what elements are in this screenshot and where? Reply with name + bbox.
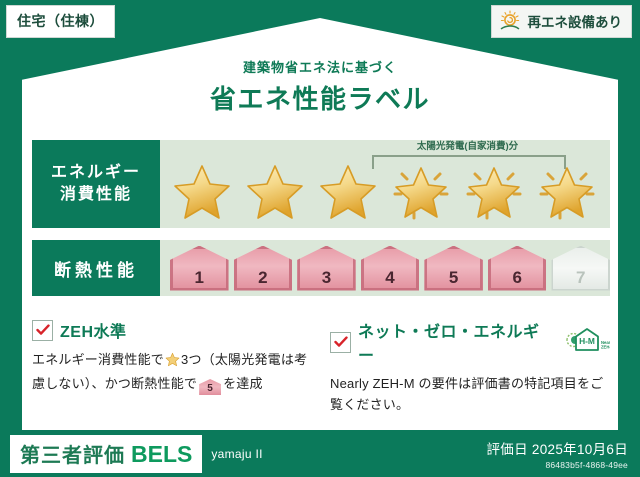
- insulation-grade-badge: 6: [488, 246, 547, 291]
- bels-certification-box: 第三者評価 BELS: [10, 435, 202, 473]
- star-icon-solar: [385, 160, 456, 224]
- star-rating: [160, 160, 610, 224]
- zeh-note-header: ZEH水準: [32, 318, 312, 342]
- evaluation-date: 評価日 2025年10月6日: [486, 438, 628, 458]
- insulation-grade-badge: 1: [170, 246, 229, 291]
- nze-note-title: ネット・ゼロ・エネルギー: [358, 318, 553, 366]
- energy-performance-label: 住宅（住棟） 再エネ設備あり 建築物省エネ法に基づく: [0, 0, 640, 477]
- solar-sun-icon: [499, 10, 523, 32]
- svg-text:ZEH-M: ZEH-M: [601, 344, 610, 349]
- svg-text:H-M: H-M: [579, 336, 595, 346]
- page-title: 省エネ性能ラベル: [0, 79, 640, 116]
- insulation-grade-badge: 4: [361, 246, 420, 291]
- evaluation-info: 評価日 2025年10月6日 86483b5f-4868-49ee: [486, 438, 628, 470]
- bels-jp-label: 第三者評価: [20, 439, 125, 468]
- star-icon-solar: [458, 160, 529, 224]
- evaluation-id: 86483b5f-4868-49ee: [486, 460, 628, 470]
- check-icon: [330, 332, 351, 353]
- footer-bar: 第三者評価 BELS yamaju II 評価日 2025年10月6日 8648…: [0, 430, 640, 477]
- renewable-equipment-tag: 再エネ設備あり: [491, 5, 633, 38]
- energy-stars-area: 太陽光発電(自家消費)分: [160, 140, 610, 228]
- title-subtitle: 建築物省エネ法に基づく: [0, 57, 640, 76]
- insulation-grades-area: 1 2 3 4 5 6 7: [160, 240, 610, 296]
- insulation-label: 断熱性能: [54, 256, 138, 281]
- dwelling-type-tag: 住宅（住棟）: [6, 5, 115, 38]
- renewable-tag-label: 再エネ設備あり: [528, 11, 623, 31]
- check-icon: [32, 320, 53, 341]
- zeh-note-title: ZEH水準: [60, 318, 127, 342]
- nze-note-header: ネット・ゼロ・エネルギー H-M Nearly ZEH-M: [330, 318, 610, 366]
- inline-insulation-grade-badge: 5: [199, 379, 221, 395]
- insulation-grade-badge: 5: [424, 246, 483, 291]
- energy-performance-row: エネルギー 消費性能 太陽光発電(自家消費)分: [32, 140, 610, 228]
- zeh-note-text-a: エネルギー消費性能で: [32, 352, 164, 367]
- insulation-grade-badge: 3: [297, 246, 356, 291]
- insulation-performance-label-box: 断熱性能: [32, 240, 160, 296]
- star-icon-solar: [531, 160, 602, 224]
- star-icon: [239, 160, 310, 224]
- inline-star-icon: [165, 352, 180, 373]
- insulation-grade-badge-inactive: 7: [551, 246, 610, 291]
- energy-label-line1: エネルギー: [51, 162, 141, 184]
- net-zero-energy-note: ネット・ゼロ・エネルギー H-M Nearly ZEH-M Nearly ZEH…: [330, 318, 610, 415]
- energy-label-line2: 消費性能: [60, 184, 132, 206]
- zeh-note-text-c: を達成: [223, 376, 263, 391]
- star-icon: [166, 160, 237, 224]
- nze-note-body: Nearly ZEH-M の要件は評価書の特記項目をご覧ください。: [330, 373, 610, 415]
- building-name: yamaju II: [211, 447, 262, 461]
- notes-section: ZEH水準 エネルギー消費性能で3つ（太陽光発電は考慮しない）、かつ断熱性能で5…: [32, 318, 610, 415]
- insulation-grade-badge: 2: [234, 246, 293, 291]
- bels-logo-text: BELS: [131, 441, 192, 468]
- solar-bracket-caption: 太陽光発電(自家消費)分: [365, 138, 570, 152]
- energy-performance-label-box: エネルギー 消費性能: [32, 140, 160, 228]
- zeh-note-body: エネルギー消費性能で3つ（太陽光発電は考慮しない）、かつ断熱性能で5を達成: [32, 349, 312, 395]
- star-icon: [312, 160, 383, 224]
- insulation-performance-row: 断熱性能 1 2 3 4 5 6 7: [32, 240, 610, 296]
- label-title-block: 建築物省エネ法に基づく 省エネ性能ラベル: [0, 57, 640, 116]
- zeh-m-logo-icon: H-M Nearly ZEH-M: [564, 326, 610, 359]
- insulation-grade-scale: 1 2 3 4 5 6 7: [160, 240, 610, 296]
- zeh-standard-note: ZEH水準 エネルギー消費性能で3つ（太陽光発電は考慮しない）、かつ断熱性能で5…: [32, 318, 312, 415]
